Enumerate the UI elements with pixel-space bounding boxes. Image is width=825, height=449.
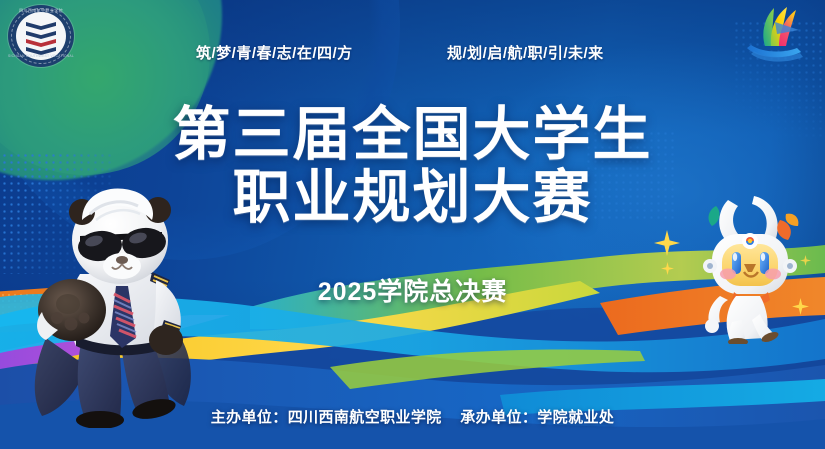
- footer-organizer: 主办单位：四川西南航空职业学院: [211, 409, 442, 426]
- emblem-chevron-1: [26, 22, 56, 30]
- emblem-top-text: 四川西南航空职业学院: [8, 8, 74, 22]
- poster-footer: 主办单位：四川西南航空职业学院 承办单位：学院就业处: [0, 406, 825, 427]
- emblem-chevron-2: [26, 31, 56, 39]
- halftone-dots-right: [585, 130, 675, 220]
- rabbit-robot-mascot: [690, 192, 810, 344]
- competition-poster: 四川西南航空职业学院 SICHUAN SOUTHWEST VOCATIONAL …: [0, 0, 825, 449]
- emblem-bottom-text: SICHUAN SOUTHWEST VOCATIONAL COLLEGE OF …: [8, 54, 74, 64]
- school-emblem-logo: 四川西南航空职业学院 SICHUAN SOUTHWEST VOCATIONAL …: [8, 5, 74, 67]
- tagline-right: 规/划/启/航/职/引/未/来: [447, 42, 604, 63]
- footer-coorganizer: 承办单位：学院就业处: [460, 409, 614, 426]
- tagline-left: 筑/梦/青/春/志/在/四/方: [196, 42, 353, 63]
- emblem-chevron-3: [26, 39, 56, 47]
- sailboat-logo-icon: [737, 4, 807, 66]
- panda-pilot-mascot: [24, 188, 214, 428]
